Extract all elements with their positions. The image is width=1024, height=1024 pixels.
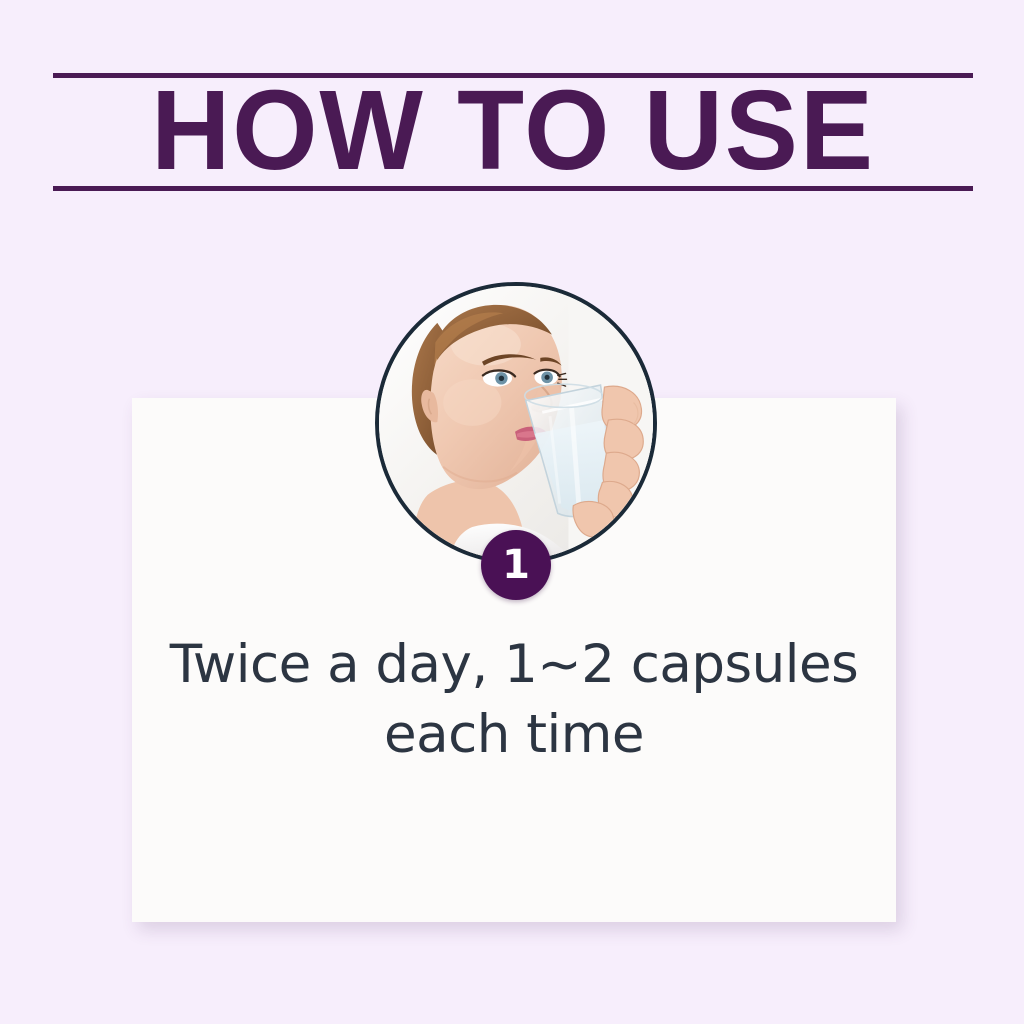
header-block: HOW TO USE (53, 73, 973, 191)
woman-drinking-water-illustration (379, 286, 653, 560)
step-number-badge: 1 (481, 530, 551, 600)
header-rule-bottom (53, 186, 973, 191)
step-instruction-text: Twice a day, 1~2 capsules each time (132, 630, 896, 770)
page-title: HOW TO USE (67, 75, 959, 186)
drinking-water-photo (375, 282, 657, 564)
